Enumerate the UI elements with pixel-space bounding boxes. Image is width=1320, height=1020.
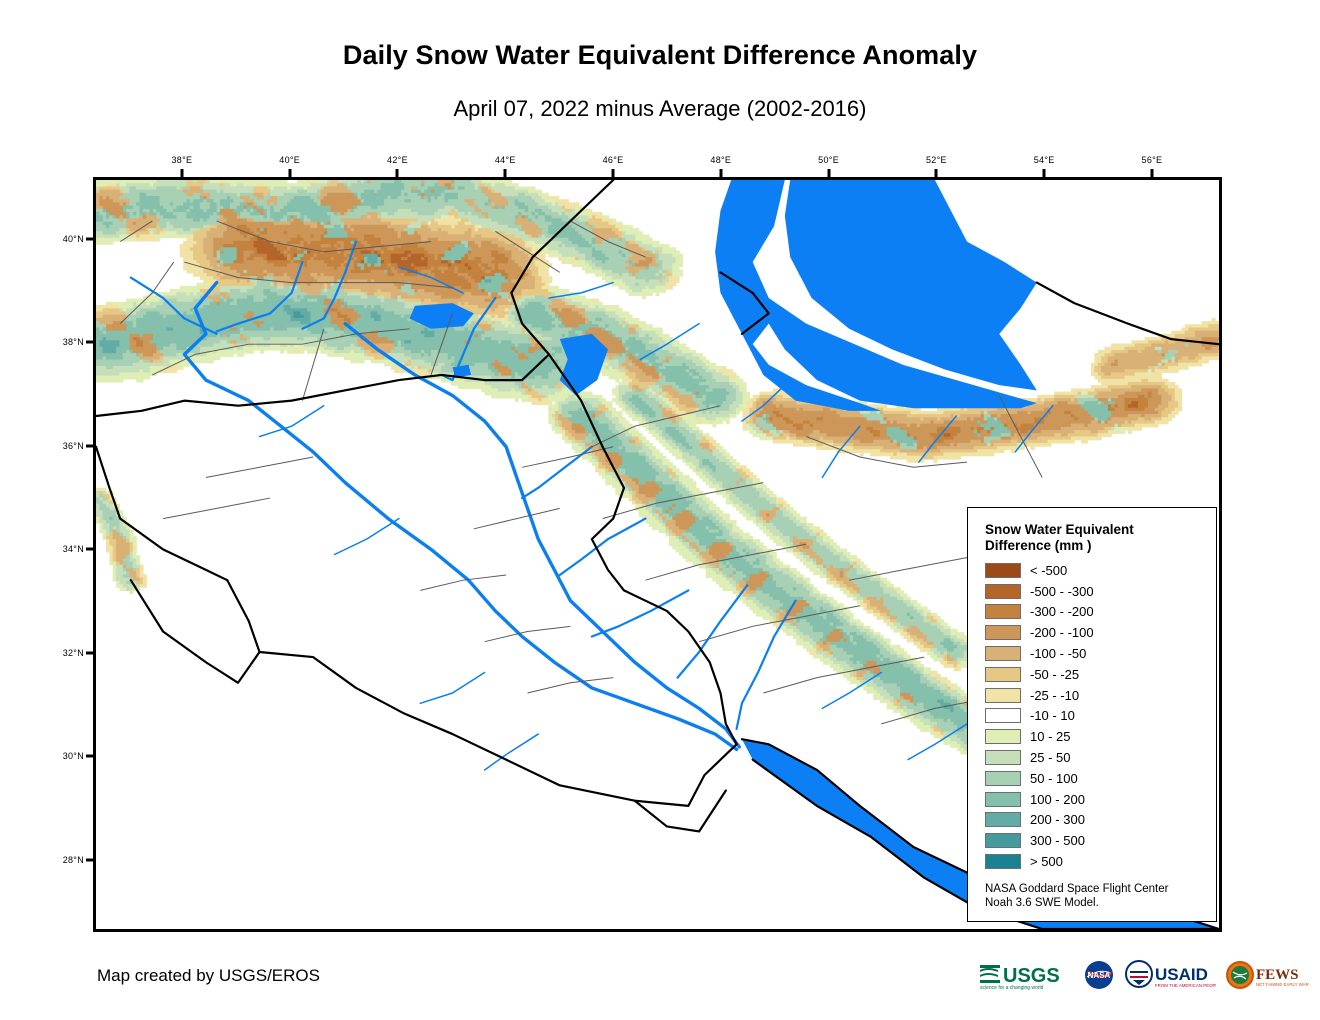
legend-label: < -500 <box>1030 563 1067 578</box>
legend-row: 25 - 50 <box>985 747 1216 768</box>
legend-label: 10 - 25 <box>1030 729 1070 744</box>
longitude-label: 50°E <box>818 155 839 165</box>
page-subtitle: April 07, 2022 minus Average (2002-2016) <box>0 96 1320 122</box>
legend-label: 25 - 50 <box>1030 750 1070 765</box>
longitude-label: 44°E <box>495 155 516 165</box>
country-border <box>131 580 260 683</box>
admin-boundary <box>163 498 270 519</box>
legend-swatch <box>985 584 1021 599</box>
legend-panel: Snow Water Equivalent Difference (mm ) <… <box>967 507 1217 922</box>
legend-swatch <box>985 646 1021 661</box>
legend-swatch <box>985 729 1021 744</box>
latitude-label: 32°N <box>52 648 84 658</box>
legend-swatch <box>985 688 1021 703</box>
latitude-label: 28°N <box>52 855 84 865</box>
longitude-label: 54°E <box>1034 155 1055 165</box>
country-border <box>227 580 736 806</box>
legend-row: < -500 <box>985 560 1216 581</box>
legend-swatch <box>985 604 1021 619</box>
usgs-logo[interactable]: USGS science for a changing world <box>978 958 1074 992</box>
legend-swatch <box>985 771 1021 786</box>
legend-label: -200 - -100 <box>1030 625 1094 640</box>
map-credit: Map created by USGS/EROS <box>97 966 320 986</box>
legend-row: -300 - -200 <box>985 602 1216 623</box>
legend-swatch <box>985 833 1021 848</box>
usaid-logo[interactable]: USAID FROM THE AMERICAN PEOPLE <box>1124 958 1216 992</box>
legend-row: -25 - -10 <box>985 685 1216 706</box>
legend-swatch <box>985 812 1021 827</box>
legend-label: -10 - 10 <box>1030 708 1075 723</box>
admin-boundary <box>474 508 560 528</box>
legend-row: -50 - -25 <box>985 664 1216 685</box>
river <box>560 519 646 575</box>
legend-row: 300 - 500 <box>985 830 1216 851</box>
latitude-label: 38°N <box>52 337 84 347</box>
nasa-logo[interactable]: NASA <box>1083 958 1115 992</box>
legend-swatch <box>985 750 1021 765</box>
legend-swatch <box>985 708 1021 723</box>
legend-label: -25 - -10 <box>1030 688 1079 703</box>
legend-label: 300 - 500 <box>1030 833 1085 848</box>
legend-swatch <box>985 792 1021 807</box>
fewsnet-logo[interactable]: FEWS NET FAMINE EARLY WARNING <box>1225 958 1309 992</box>
legend-swatch <box>985 854 1021 869</box>
longitude-label: 52°E <box>926 155 947 165</box>
legend-row: 200 - 300 <box>985 810 1216 831</box>
legend-source-line1: NASA Goddard Space Flight Center <box>985 882 1168 896</box>
legend-row: > 500 <box>985 851 1216 872</box>
longitude-label: 46°E <box>603 155 624 165</box>
longitude-label: 38°E <box>171 155 192 165</box>
legend-swatch <box>985 563 1021 578</box>
legend-title-line1: Snow Water Equivalent <box>985 522 1200 538</box>
legend-label: -300 - -200 <box>1030 604 1094 619</box>
legend-label: 100 - 200 <box>1030 792 1085 807</box>
legend-row: -10 - 10 <box>985 706 1216 727</box>
legend-label: -500 - -300 <box>1030 584 1094 599</box>
river <box>420 672 484 703</box>
lake-urmia <box>560 334 608 396</box>
legend-swatch <box>985 667 1021 682</box>
legend-label: 200 - 300 <box>1030 812 1085 827</box>
legend-source-line2: Noah 3.6 SWE Model. <box>985 896 1168 910</box>
longitude-label: 40°E <box>279 155 300 165</box>
legend-title-line2: Difference (mm ) <box>985 538 1200 554</box>
latitude-label: 30°N <box>52 751 84 761</box>
logo-strip: USGS science for a changing world NASA U… <box>978 957 1309 993</box>
legend-label: > 500 <box>1030 854 1063 869</box>
longitude-label: 42°E <box>387 155 408 165</box>
legend-label: -100 - -50 <box>1030 646 1086 661</box>
legend-row: -500 - -300 <box>985 581 1216 602</box>
river <box>260 406 324 437</box>
legend-class-list: < -500-500 - -300-300 - -200-200 - -100-… <box>985 560 1216 872</box>
latitude-label: 34°N <box>52 544 84 554</box>
legend-row: 10 - 25 <box>985 726 1216 747</box>
admin-boundary <box>206 457 313 478</box>
page-title: Daily Snow Water Equivalent Difference A… <box>0 40 1320 71</box>
latitude-label: 36°N <box>52 441 84 451</box>
country-border <box>635 791 726 832</box>
longitude-label: 56°E <box>1142 155 1163 165</box>
river <box>335 519 399 555</box>
legend-row: -200 - -100 <box>985 622 1216 643</box>
legend-row: -100 - -50 <box>985 643 1216 664</box>
legend-row: 100 - 200 <box>985 789 1216 810</box>
longitude-label: 48°E <box>710 155 731 165</box>
legend-title: Snow Water Equivalent Difference (mm ) <box>985 522 1200 554</box>
legend-row: 50 - 100 <box>985 768 1216 789</box>
legend-label: 50 - 100 <box>1030 771 1078 786</box>
river <box>485 734 539 770</box>
legend-source: NASA Goddard Space Flight Center Noah 3.… <box>985 882 1168 910</box>
legend-label: -50 - -25 <box>1030 667 1079 682</box>
latitude-label: 40°N <box>52 234 84 244</box>
legend-swatch <box>985 625 1021 640</box>
